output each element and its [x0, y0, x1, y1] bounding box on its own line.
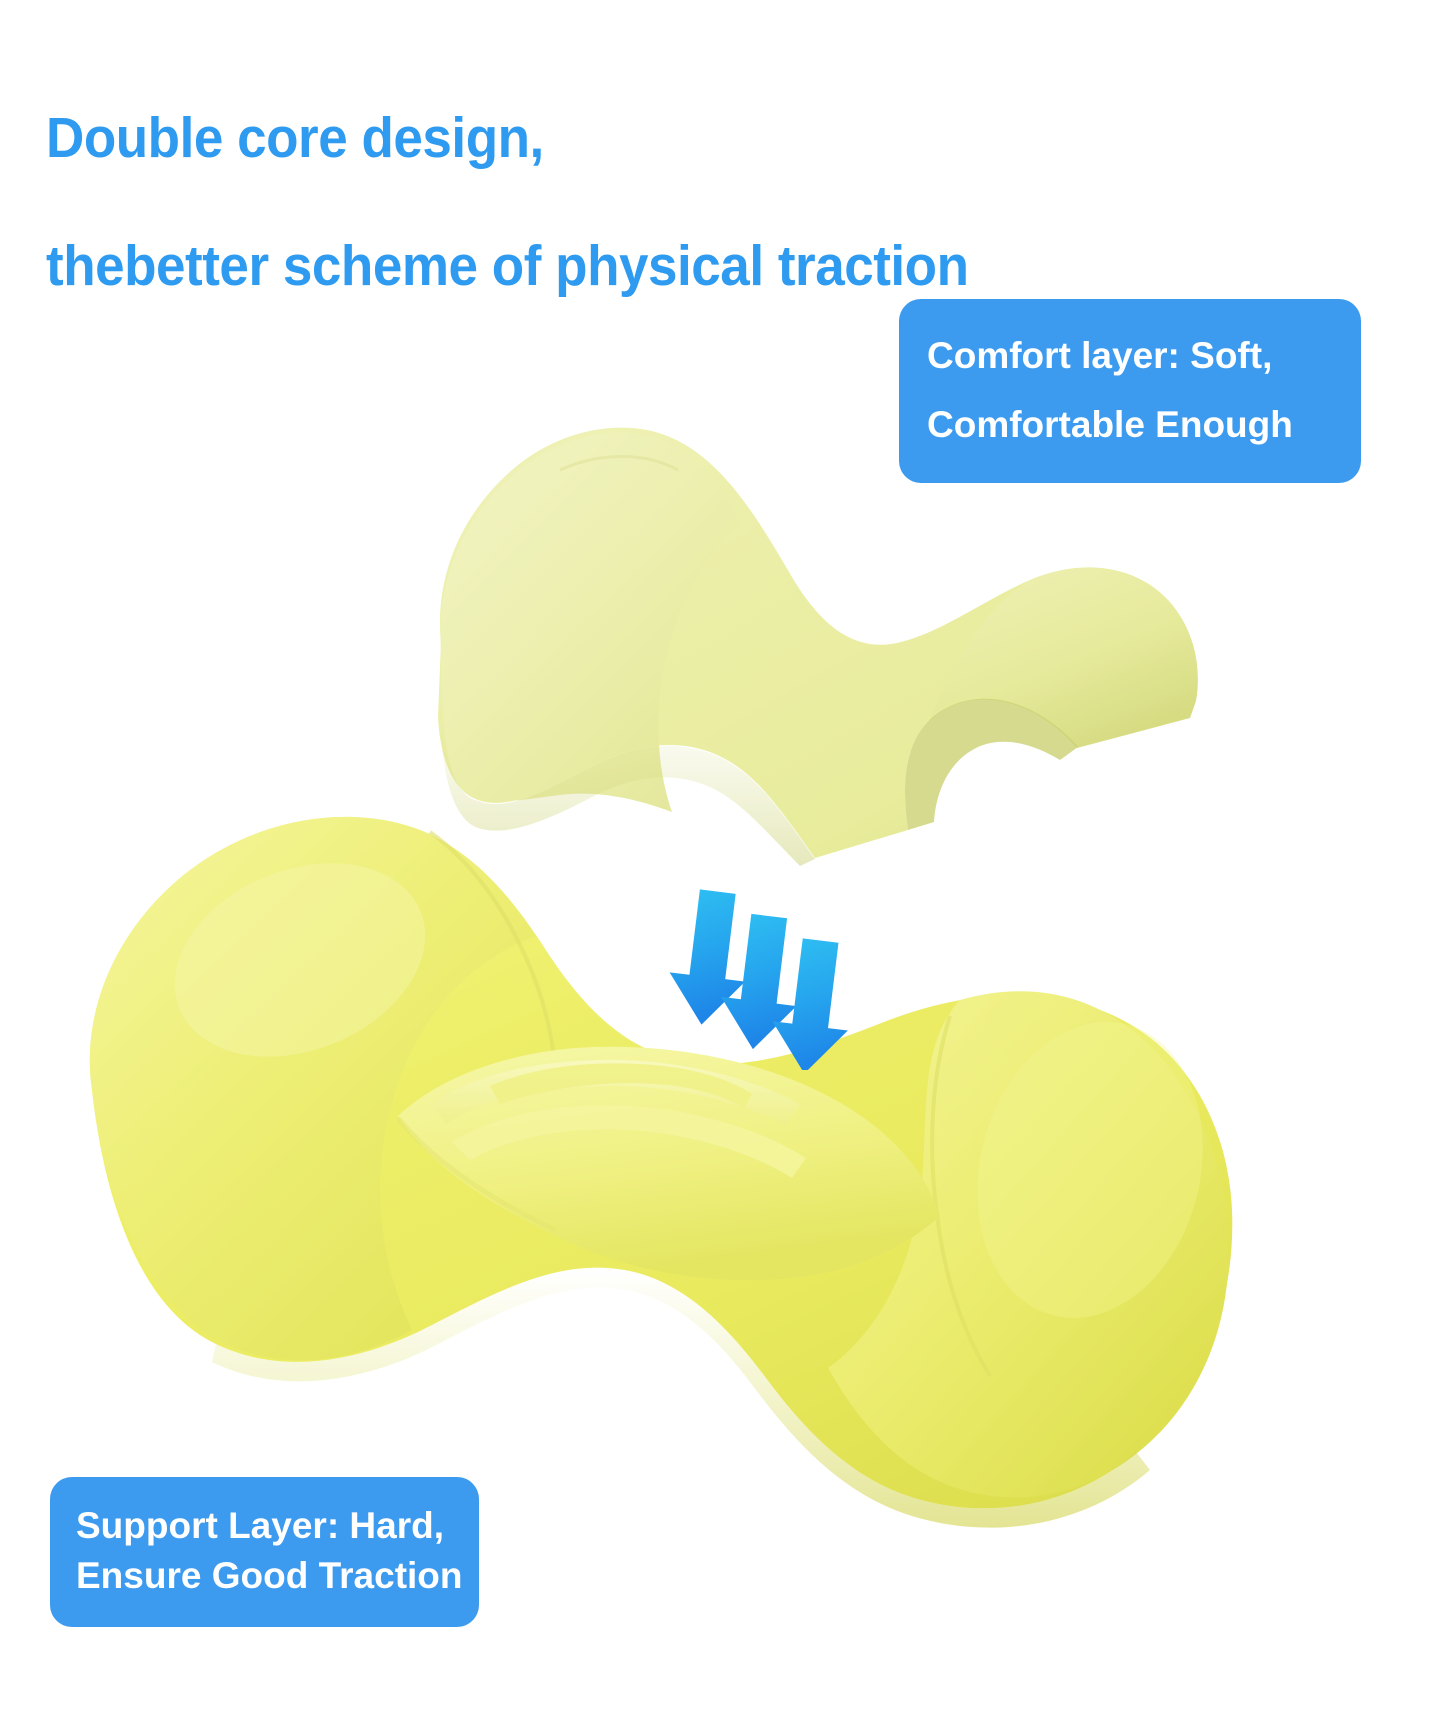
support-foam-left-lobe [90, 817, 536, 1360]
callout-comfort-line-2: Comfortable Enough [927, 390, 1335, 459]
comfort-foam-arch-shadow [905, 699, 1078, 830]
downward-arrows-group [660, 880, 870, 1070]
support-foam-channel-edge [398, 1118, 556, 1230]
support-foam-slot [490, 1063, 752, 1108]
support-foam-seam-right [932, 1016, 990, 1376]
callout-support-line-1: Support Layer: Hard, [76, 1501, 457, 1551]
page-title-line-1: Double core design, [46, 106, 1088, 170]
product-infographic: Double core design, thebetter scheme of … [0, 0, 1445, 1734]
support-foam-ridge-lower [452, 1105, 806, 1178]
comfort-foam-body [438, 428, 1198, 858]
callout-comfort-layer: Comfort layer: Soft, Comfortable Enough [899, 299, 1361, 483]
comfort-foam-right-lobe [929, 568, 1198, 748]
comfort-foam-left-lobe [440, 433, 740, 812]
comfort-foam-crease [560, 457, 678, 471]
comfort-foam-front-shadow [440, 700, 815, 866]
support-foam-center-channel [398, 1047, 940, 1280]
callout-support-layer: Support Layer: Hard, Ensure Good Tractio… [50, 1477, 479, 1627]
callout-comfort-line-1: Comfort layer: Soft, [927, 321, 1335, 390]
support-foam-seam-left [430, 832, 557, 1150]
page-title-line-2: thebetter scheme of physical traction [46, 234, 1088, 298]
support-foam-right-highlight [947, 998, 1233, 1342]
support-foam-left-highlight [146, 828, 454, 1092]
callout-support-line-2: Ensure Good Traction [76, 1551, 457, 1601]
comfort-layer-foam [438, 428, 1198, 866]
support-foam-right-lobe [828, 991, 1229, 1497]
